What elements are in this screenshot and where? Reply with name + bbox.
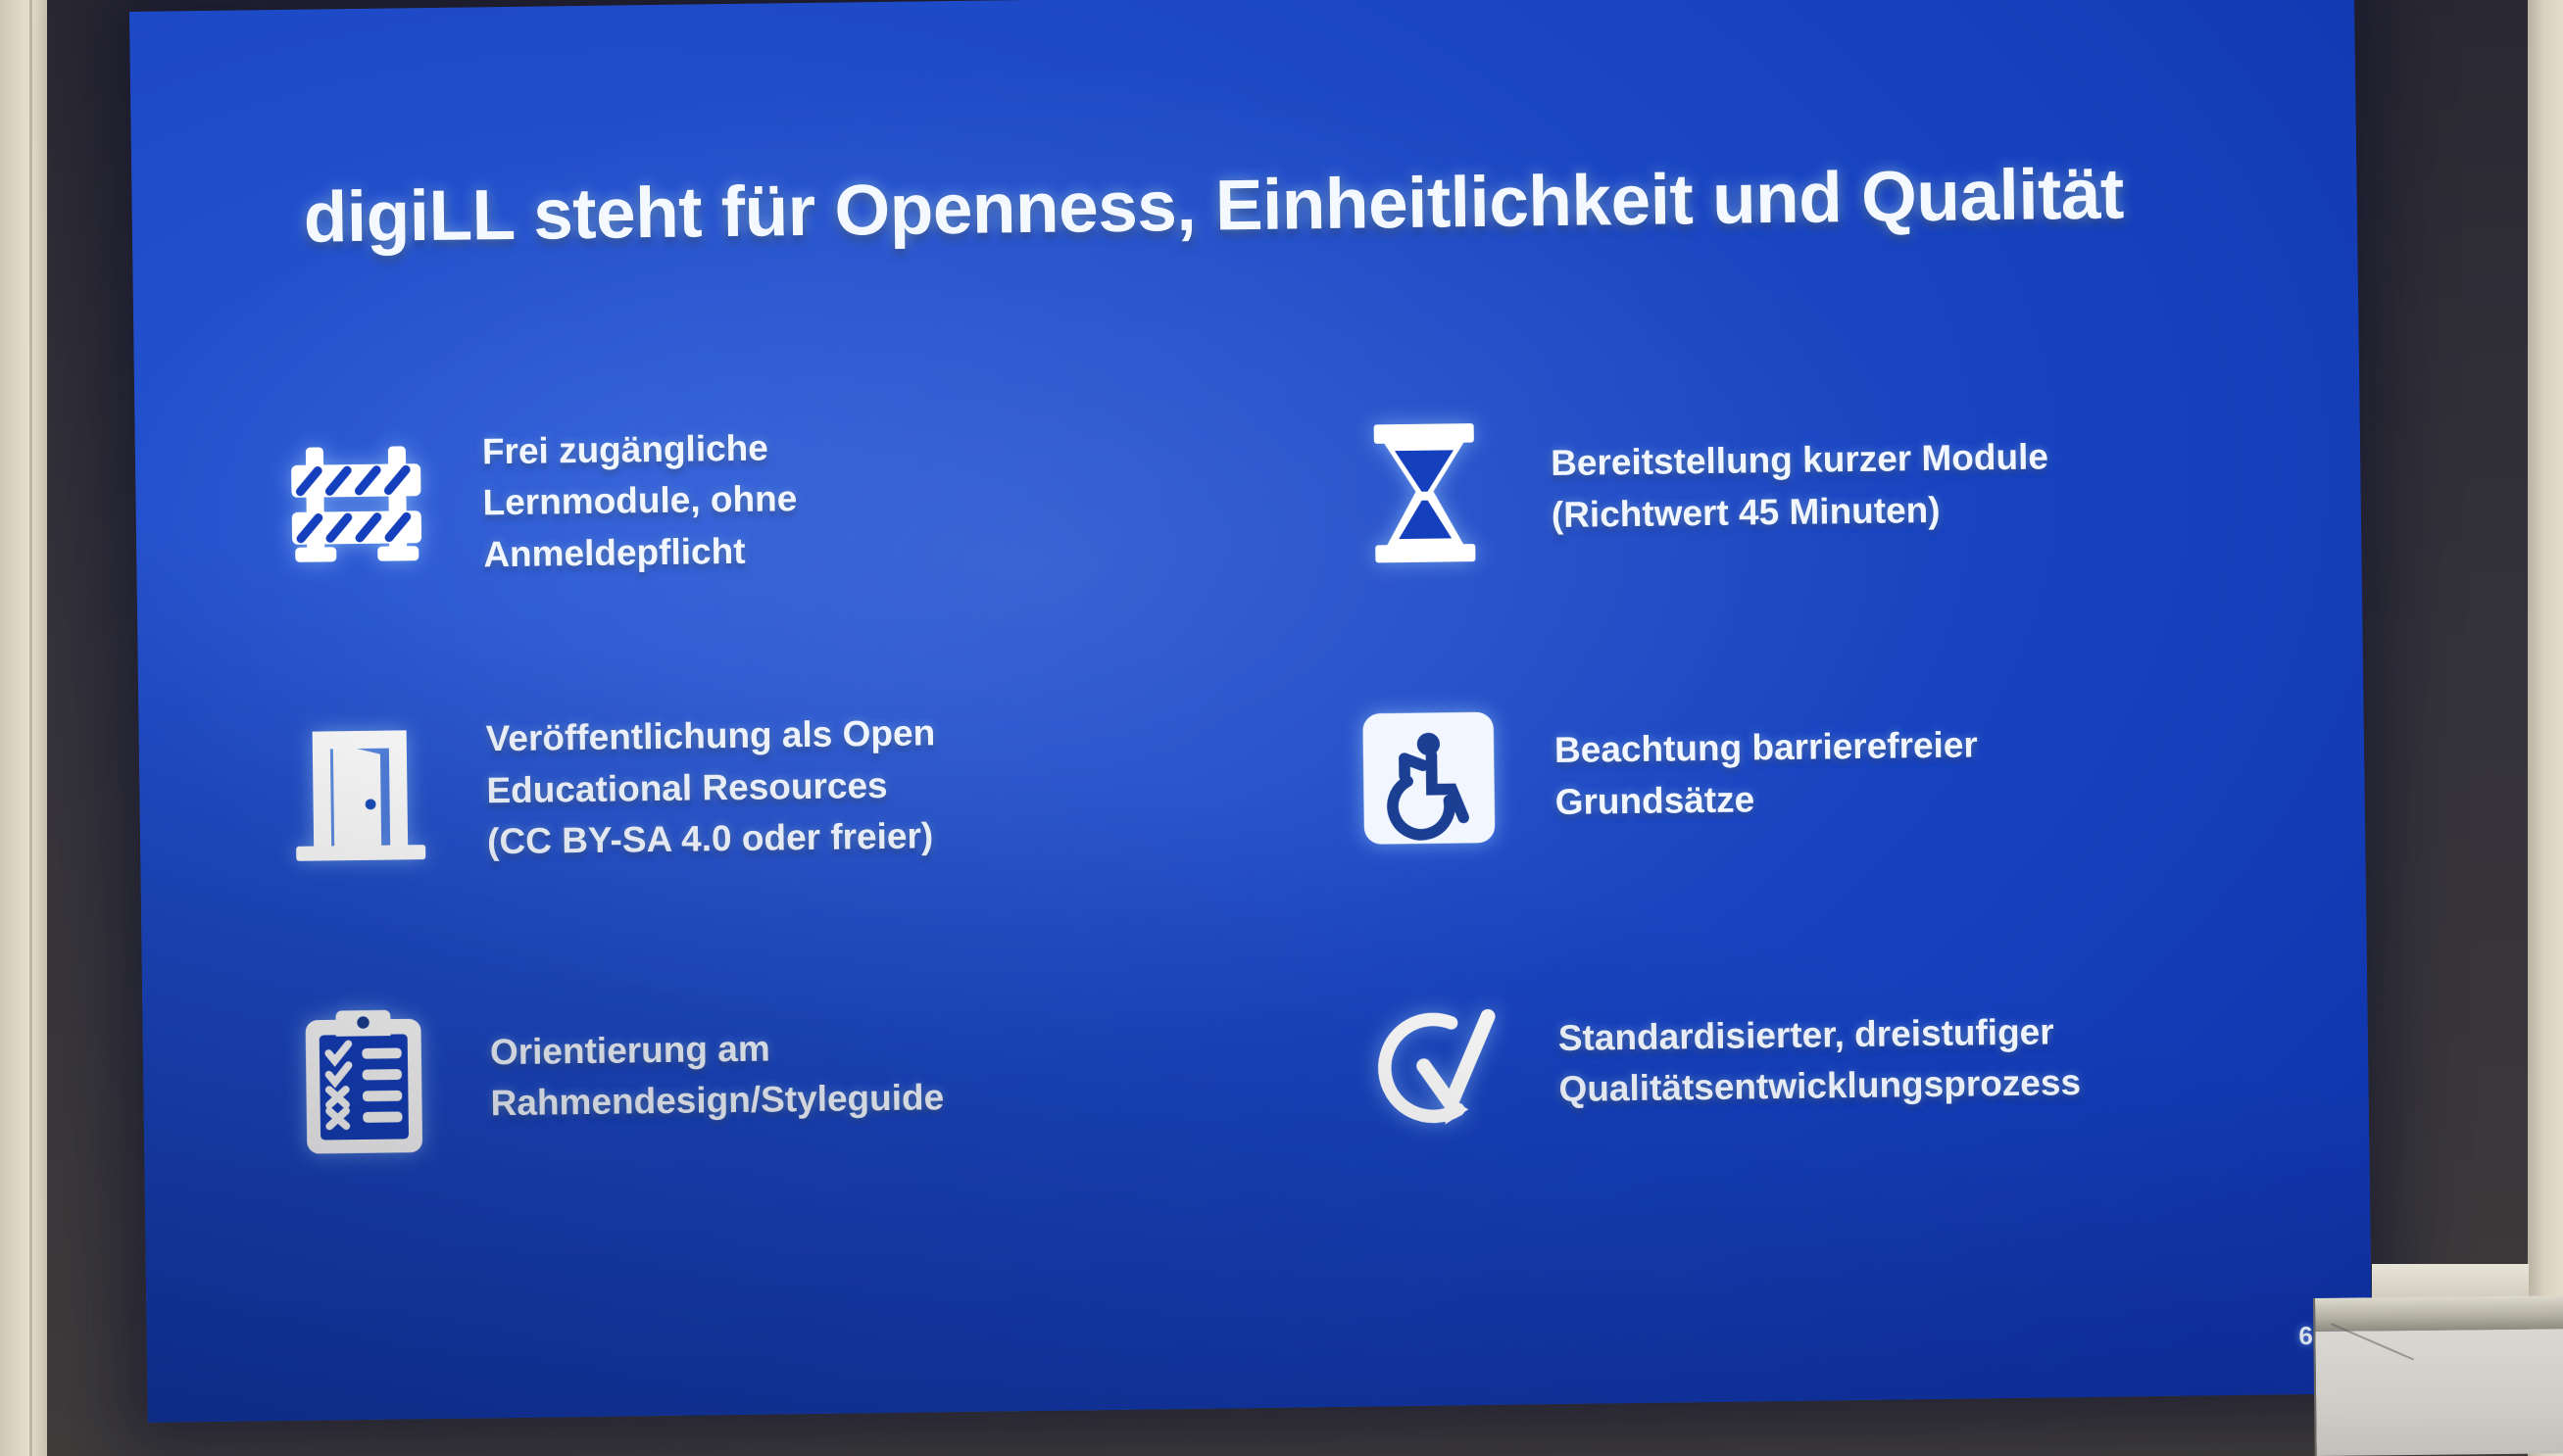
feature-line: Anmeldepflicht — [483, 525, 798, 581]
feature-line: Frei zugängliche — [482, 422, 797, 478]
slide-number: 6 — [2298, 1321, 2313, 1351]
slide-canvas: digiLL steht für Openness, Einheitlichke… — [129, 0, 2373, 1423]
hourglass-icon — [1340, 407, 1508, 575]
feature-item-orientierung-rahmendesign: Orientierung am Rahmendesign/Styleguide — [239, 925, 1253, 1226]
feature-item-veroeffentlichung-als-oer: Veröffentlichung als Open Educational Re… — [236, 637, 1250, 938]
flipchart-top-rail — [2313, 1295, 2563, 1332]
feature-text: Frei zugängliche Lernmodule, ohne Anmeld… — [482, 422, 799, 581]
feature-text: Orientierung am Rahmendesign/Styleguide — [490, 1021, 945, 1130]
feature-text: Bereitstellung kurzer Module (Richtwert … — [1551, 432, 2049, 542]
barrier-icon — [272, 421, 441, 590]
feature-item-bereitstellung-kurzer-module: Bereitstellung kurzer Module (Richtwert … — [1271, 336, 2285, 637]
wall-strip-right — [2528, 0, 2563, 1456]
feature-line: Bereitstellung kurzer Module — [1551, 432, 2048, 490]
feature-grid: Frei zugängliche Lernmodule, ohne Anmeld… — [232, 336, 2292, 1225]
feature-item-qualitaetsentwicklungsprozess: Standardisierter, dreistufiger Qualitäts… — [1278, 911, 2292, 1212]
feature-text: Veröffentlichung als Open Educational Re… — [485, 707, 936, 868]
feature-line: Educational Resources — [486, 759, 936, 817]
feature-line: Orientierung am — [490, 1021, 944, 1079]
projected-slide: digiLL steht für Openness, Einheitlichke… — [129, 0, 2373, 1423]
feature-text: Standardisierter, dreistufiger Qualitäts… — [1557, 1006, 2081, 1116]
feature-line: Beachtung barrierefreier — [1554, 720, 1978, 777]
feature-line: Rahmendesign/Styleguide — [490, 1073, 944, 1131]
page-title: digiLL steht für Openness, Einheitlichke… — [303, 157, 2166, 257]
photo-scene: digiLL steht für Openness, Einheitlichke… — [0, 0, 2563, 1456]
flipchart-paper — [2313, 1329, 2563, 1456]
wheelchair-accessibility-icon — [1344, 695, 1512, 863]
flipchart-board — [2313, 1295, 2563, 1456]
feature-line: Veröffentlichung als Open — [485, 707, 935, 765]
feature-item-barrierefreiheit: Beachtung barrierefreier Grundsätze — [1274, 624, 2288, 925]
clipboard-checklist-icon — [279, 995, 448, 1164]
feature-line: Qualitätsentwicklungsprozess — [1558, 1057, 2081, 1115]
feature-line: Lernmodule, ohne — [482, 474, 797, 530]
feature-line: (CC BY-SA 4.0 oder freier) — [487, 811, 937, 869]
feature-text: Beachtung barrierefreier Grundsätze — [1554, 720, 1979, 829]
feature-line: (Richtwert 45 Minuten) — [1552, 483, 2049, 541]
open-door-icon — [275, 708, 444, 877]
wall-strip-left — [0, 0, 47, 1456]
feature-line: Standardisierter, dreistufiger — [1557, 1006, 2080, 1064]
feature-item-frei-zugaengliche-lernmodule: Frei zugängliche Lernmodule, ohne Anmeld… — [232, 350, 1246, 651]
feature-line: Grundsätze — [1554, 771, 1978, 828]
cycle-checkmark-icon — [1348, 982, 1516, 1150]
